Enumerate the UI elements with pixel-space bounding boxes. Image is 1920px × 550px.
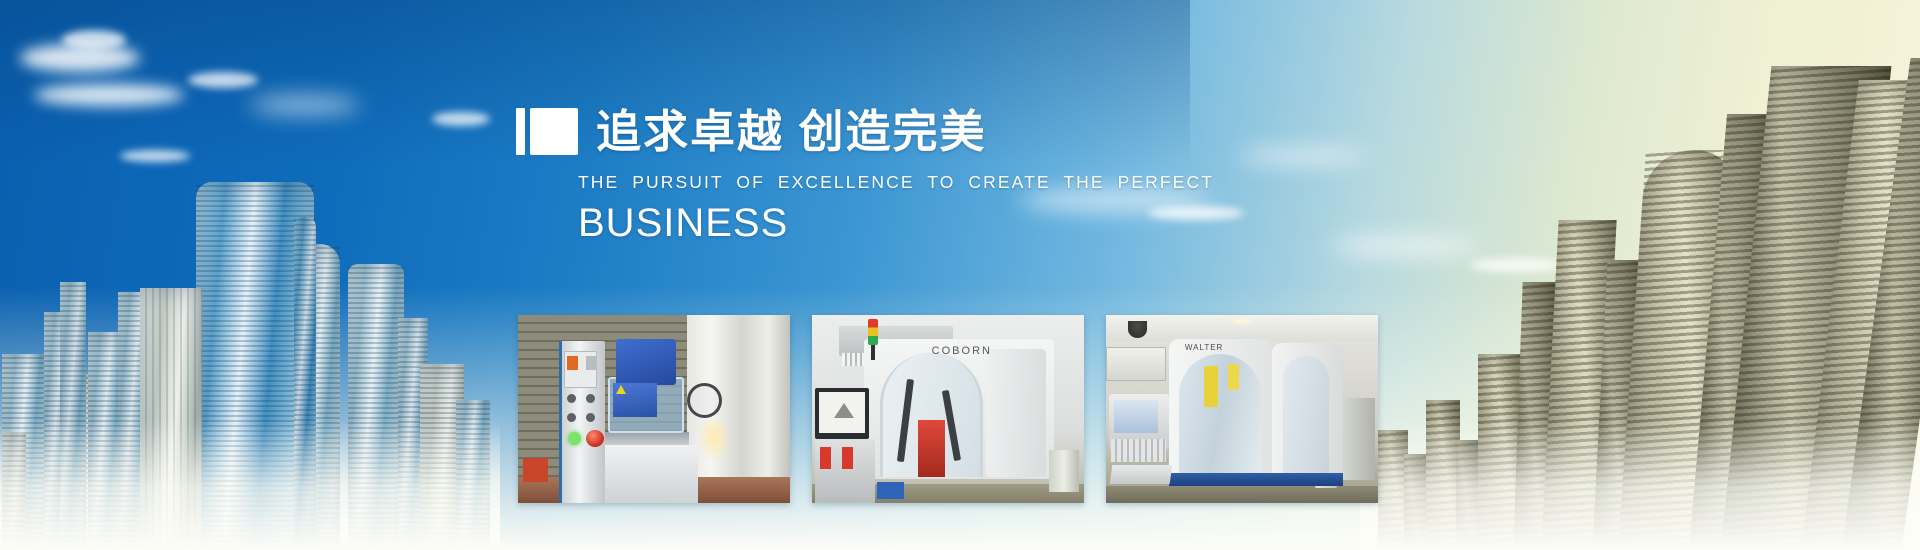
photo-caption: COBORN <box>932 345 992 357</box>
cloud-icon <box>120 150 190 162</box>
photo-walter-machine[interactable]: WALTER <box>1106 315 1378 503</box>
logo-square-shape <box>530 108 578 155</box>
headline-row: 追求卓越 创造完美 <box>516 108 1256 155</box>
cloud-icon <box>250 96 360 114</box>
cloud-icon <box>34 84 184 106</box>
subtitle-english: THE PURSUIT OF EXCELLENCE TO CREATE THE … <box>578 172 1256 193</box>
bar-square-logo-mark-icon <box>516 108 578 155</box>
photo-grinding-machine[interactable] <box>518 315 790 503</box>
headline-block: 追求卓越 创造完美 THE PURSUIT OF EXCELLENCE TO C… <box>516 108 1256 244</box>
cloud-icon <box>1470 258 1562 272</box>
logo-bar-shape <box>516 108 525 155</box>
cloud-icon <box>1330 236 1480 256</box>
cloud-icon <box>1238 148 1368 164</box>
page-title: 追求卓越 创造完美 <box>596 109 987 154</box>
photo-coborn-machine[interactable]: COBORN <box>812 315 1084 503</box>
hero-banner: 追求卓越 创造完美 THE PURSUIT OF EXCELLENCE TO C… <box>0 0 1920 550</box>
cloud-icon <box>432 112 490 126</box>
cloud-icon <box>188 72 258 88</box>
photo-gallery: COBORN WALTER <box>518 315 1378 503</box>
subtitle-business: BUSINESS <box>578 202 1256 244</box>
cloud-icon <box>62 30 126 50</box>
photo-caption: WALTER <box>1185 343 1223 352</box>
